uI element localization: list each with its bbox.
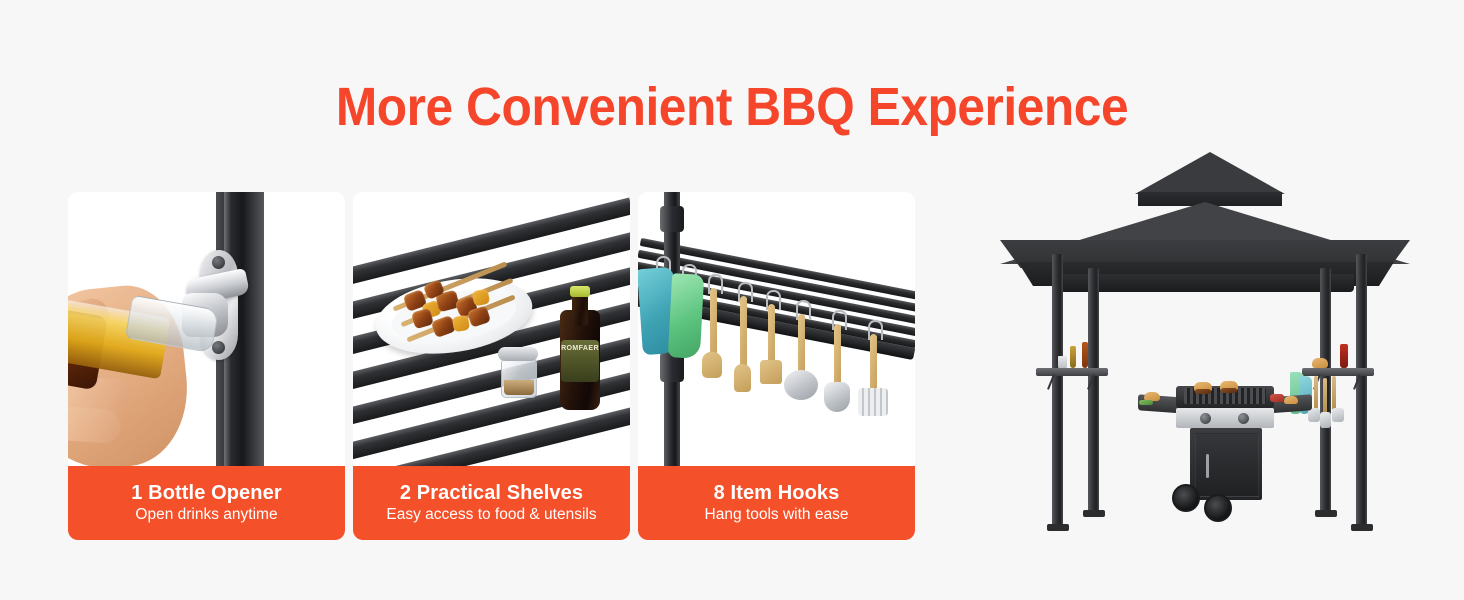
feature-caption: 2 Practical Shelves Easy access to food … (353, 466, 630, 540)
feature-card-bottle-opener[interactable]: 1 Bottle Opener Open drinks anytime (68, 192, 345, 540)
gazebo-foot (1047, 524, 1069, 531)
gazebo-leg-front-left (1052, 254, 1063, 526)
utensil-handle (834, 324, 841, 386)
gas-grill (1150, 376, 1300, 526)
pole-joint-graphic (660, 206, 684, 232)
feature-caption: 1 Bottle Opener Open drinks anytime (68, 466, 345, 540)
hanging-utensil (1332, 376, 1336, 410)
feature-card-list: 1 Bottle Opener Open drinks anytime (68, 192, 915, 540)
bottle-cap (570, 286, 590, 297)
burger-on-shelf (1312, 358, 1328, 368)
slotted-turner-head (858, 388, 888, 416)
promo-banner: More Convenient BBQ Experience (0, 0, 1464, 600)
utensil-handle (870, 334, 877, 392)
sauce-bottle-graphic: ROMFAER (560, 286, 600, 410)
wooden-spoon-head (702, 352, 722, 378)
feature-subtitle: Open drinks anytime (135, 506, 277, 525)
bottle-neck (572, 292, 588, 326)
skimmer-head (784, 370, 818, 400)
patty-on-grill (1221, 388, 1237, 393)
bottle-label-text: ROMFAER (561, 345, 599, 352)
towel-green (668, 273, 704, 359)
page-title: More Convenient BBQ Experience (59, 76, 1406, 138)
side-shelf-left (1036, 368, 1108, 376)
feature-caption: 8 Item Hooks Hang tools with ease (638, 466, 915, 540)
burner-knob[interactable] (1200, 413, 1211, 424)
product-hero-image (990, 150, 1430, 550)
gazebo-foot (1351, 524, 1373, 531)
hanging-utensil (1314, 376, 1318, 410)
ladle-head (824, 382, 850, 412)
screw-icon (212, 341, 225, 354)
shelf-illustration: ROMFAER (353, 192, 630, 466)
grill-wheel (1172, 484, 1200, 512)
patty-on-grill (1195, 389, 1211, 394)
grill-cabinet (1190, 428, 1262, 500)
bottle-label: ROMFAER (561, 340, 599, 382)
shelves-photo: ROMFAER (353, 192, 630, 466)
gazebo-foot (1083, 510, 1105, 517)
hanging-utensil-head (1320, 412, 1331, 428)
greens-on-side-table (1139, 400, 1153, 405)
bottle-on-shelf (1082, 342, 1088, 368)
burner-knob[interactable] (1238, 413, 1249, 424)
spice-jar-lid (498, 347, 538, 361)
feature-subtitle: Hang tools with ease (705, 506, 849, 525)
utensil-handle (798, 314, 805, 374)
wooden-turner-head (760, 360, 782, 384)
grill-wheel (1204, 494, 1232, 522)
bottle-on-shelf (1070, 346, 1076, 368)
feature-title: 8 Item Hooks (714, 482, 840, 505)
wooden-spatula-head (734, 364, 751, 392)
utensil-handle (768, 304, 775, 368)
canopy-top-tier (1135, 152, 1285, 194)
cup-on-shelf (1058, 356, 1067, 368)
feature-title: 1 Bottle Opener (131, 482, 281, 505)
gazebo-foot (1315, 510, 1337, 517)
hanging-utensil (1323, 378, 1327, 414)
feature-card-practical-shelves[interactable]: ROMFAER 2 Practical Shelves Easy access … (353, 192, 630, 540)
side-shelf-right (1302, 368, 1374, 376)
gazebo-leg-back-left (1088, 268, 1099, 512)
food-on-side-table (1284, 396, 1298, 404)
canopy-valance (1060, 274, 1354, 292)
bottle-opener-illustration (68, 192, 345, 466)
hooks-illustration (638, 192, 915, 466)
feature-card-item-hooks[interactable]: 8 Item Hooks Hang tools with ease (638, 192, 915, 540)
cabinet-door[interactable] (1195, 433, 1259, 497)
gazebo-leg-front-right (1356, 254, 1367, 526)
utensil-handle (710, 288, 717, 360)
veg-on-side-table (1270, 394, 1284, 402)
screw-icon (212, 256, 225, 269)
hooks-photo (638, 192, 915, 466)
utensil-handle (740, 296, 747, 372)
feature-subtitle: Easy access to food & utensils (386, 506, 596, 525)
spice-contents (504, 380, 534, 395)
sauce-on-shelf (1340, 344, 1348, 368)
spice-jar-graphic (501, 358, 537, 398)
bottle-opener-photo (68, 192, 345, 466)
hanging-utensil-head (1332, 408, 1344, 422)
grill-control-panel (1176, 408, 1274, 428)
cabinet-handle[interactable] (1206, 454, 1209, 478)
feature-title: 2 Practical Shelves (400, 482, 583, 505)
